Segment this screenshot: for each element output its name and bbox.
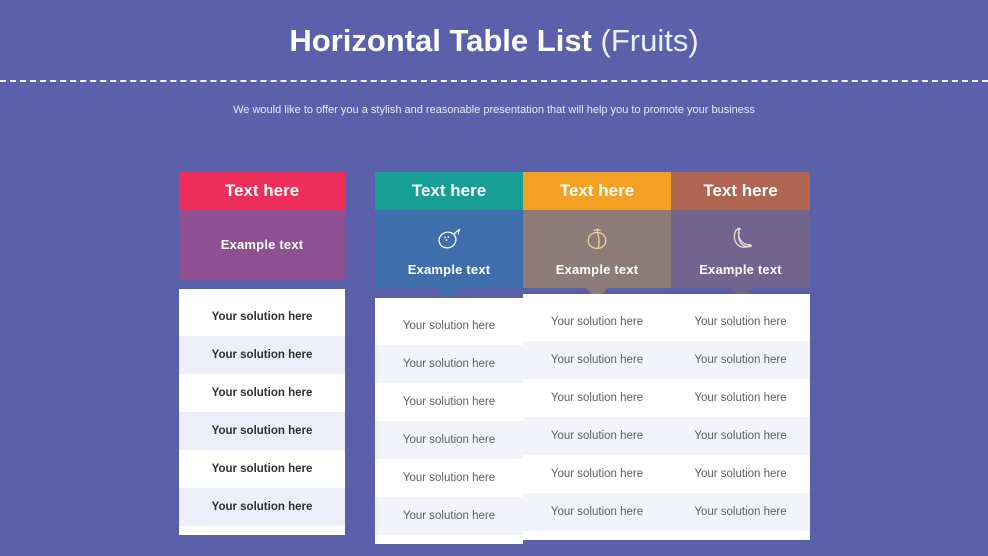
column-card-1[interactable]: Text here Example text xyxy=(179,172,345,279)
page-title-strong: Horizontal Table List xyxy=(289,23,592,58)
rows-pad-top xyxy=(671,294,810,303)
column-header-2: Text here xyxy=(375,172,523,210)
table-row[interactable]: Your solution here xyxy=(375,497,523,535)
column-header-3: Text here xyxy=(523,172,671,210)
table-row[interactable]: Your solution here xyxy=(523,379,671,417)
rows-pad-bottom xyxy=(375,535,523,544)
rows-pad-bottom xyxy=(671,531,810,540)
column-rows-3: Your solution here Your solution here Yo… xyxy=(523,294,671,540)
rows-pad-top xyxy=(523,294,671,303)
table-row[interactable]: Your solution here xyxy=(179,336,345,374)
banana-icon xyxy=(671,218,810,258)
table-row[interactable]: Your solution here xyxy=(671,417,810,455)
table-row[interactable]: Your solution here xyxy=(179,488,345,526)
table-row[interactable]: Your solution here xyxy=(671,493,810,531)
slide-canvas: Horizontal Table List (Fruits) We would … xyxy=(0,0,988,556)
column-card-4[interactable]: Text here Example text xyxy=(671,172,810,288)
column-header-1: Text here xyxy=(179,172,345,210)
table-row[interactable]: Your solution here xyxy=(375,345,523,383)
column-body-3: Example text xyxy=(523,210,671,288)
page-subtitle: We would like to offer you a stylish and… xyxy=(0,102,988,118)
table-row[interactable]: Your solution here xyxy=(523,455,671,493)
table-row[interactable]: Your solution here xyxy=(179,412,345,450)
table-row[interactable]: Your solution here xyxy=(375,383,523,421)
column-card-3[interactable]: Text here Example text xyxy=(523,172,671,288)
dashed-divider xyxy=(0,80,988,82)
column-body-1: Example text xyxy=(179,210,345,279)
table-row[interactable]: Your solution here xyxy=(671,455,810,493)
column-body-4: Example text xyxy=(671,210,810,288)
page-title: Horizontal Table List (Fruits) xyxy=(0,20,988,62)
rows-pad-top xyxy=(179,289,345,298)
column-rows-1: Your solution here Your solution here Yo… xyxy=(179,289,345,535)
column-example-label-1: Example text xyxy=(221,237,304,252)
table-row[interactable]: Your solution here xyxy=(179,450,345,488)
column-rows-4: Your solution here Your solution here Yo… xyxy=(671,294,810,540)
table-row[interactable]: Your solution here xyxy=(523,303,671,341)
table-column-4: Text here Example text Y xyxy=(671,172,810,288)
table-column-3: Text here Example text Y xyxy=(523,172,671,288)
table-row[interactable]: Your solution here xyxy=(375,459,523,497)
table-columns: Text here Example text Your solution her… xyxy=(179,172,810,524)
column-header-4: Text here xyxy=(671,172,810,210)
table-row[interactable]: Your solution here xyxy=(671,379,810,417)
column-example-label-3: Example text xyxy=(523,262,671,277)
table-row[interactable]: Your solution here xyxy=(523,417,671,455)
table-column-1: Text here Example text Your solution her… xyxy=(179,172,345,279)
table-row[interactable]: Your solution here xyxy=(523,493,671,531)
peach-icon xyxy=(523,218,671,258)
column-card-2[interactable]: Text here Example text xyxy=(375,172,523,288)
rows-pad-bottom xyxy=(523,531,671,540)
table-row[interactable]: Your solution here xyxy=(375,421,523,459)
table-column-2: Text here Example text xyxy=(375,172,523,288)
column-example-label-2: Example text xyxy=(375,262,523,277)
column-example-label-4: Example text xyxy=(671,262,810,277)
table-row[interactable]: Your solution here xyxy=(179,374,345,412)
column-rows-2: Your solution here Your solution here Yo… xyxy=(375,298,523,544)
table-row[interactable]: Your solution here xyxy=(671,303,810,341)
table-row[interactable]: Your solution here xyxy=(671,341,810,379)
table-row[interactable]: Your solution here xyxy=(179,298,345,336)
lemon-icon xyxy=(375,218,523,258)
rows-pad-top xyxy=(375,298,523,307)
column-body-2: Example text xyxy=(375,210,523,288)
table-row[interactable]: Your solution here xyxy=(375,307,523,345)
table-row[interactable]: Your solution here xyxy=(523,341,671,379)
rows-pad-bottom xyxy=(179,526,345,535)
page-title-light: (Fruits) xyxy=(601,23,699,58)
